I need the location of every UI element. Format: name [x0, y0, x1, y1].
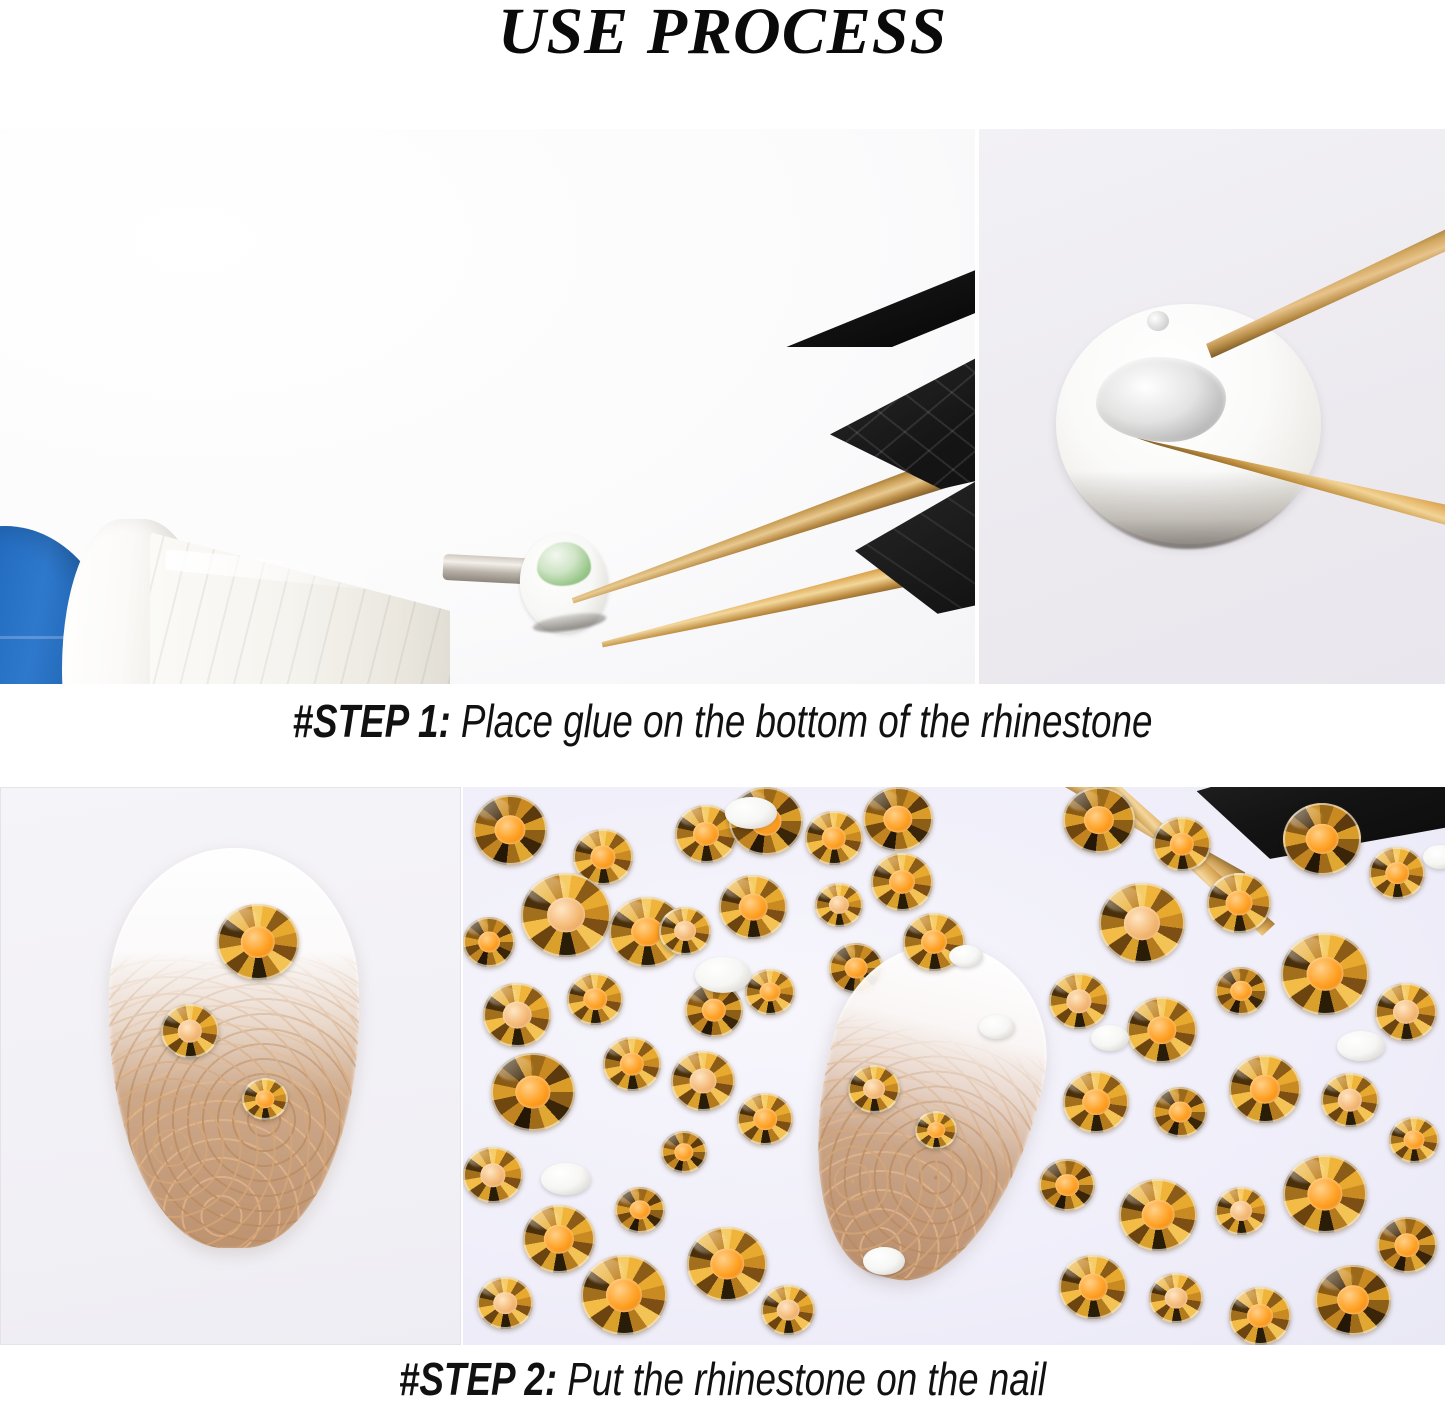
- scattered-rhinestone: [1283, 803, 1361, 875]
- scattered-rhinestone: [615, 1187, 665, 1233]
- rhinestone-face-down: [1337, 1031, 1385, 1061]
- scattered-rhinestone: [815, 883, 863, 927]
- step-1-text: Place glue on the bottom of the rhinesto…: [451, 695, 1153, 747]
- scattered-rhinestone: [863, 787, 933, 851]
- rhinestone-face-down: [949, 945, 983, 967]
- scattered-rhinestone: [521, 873, 611, 957]
- scattered-rhinestone: [581, 1255, 667, 1335]
- scattered-rhinestone: [1229, 1287, 1291, 1345]
- scattered-rhinestone: [1127, 997, 1197, 1063]
- glue-bubble: [1147, 311, 1169, 331]
- scattered-rhinestone: [463, 917, 515, 967]
- step-1-label: #STEP 1:: [293, 695, 451, 747]
- page-title: USE PROCESS: [0, 0, 1445, 68]
- scattered-rhinestone: [1389, 1117, 1439, 1163]
- scattered-rhinestone: [659, 907, 711, 955]
- infographic-page: USE PROCESS #STEP 1: Place glue on the b…: [0, 0, 1445, 1412]
- scattered-rhinestone: [805, 811, 863, 865]
- scattered-rhinestone: [671, 1051, 735, 1111]
- step-1-caption: #STEP 1: Place glue on the bottom of the…: [145, 694, 1301, 748]
- scattered-rhinestone: [687, 1227, 767, 1301]
- scattered-rhinestone: [1153, 817, 1211, 871]
- nail-rhinestone-placed: [848, 1065, 900, 1113]
- scattered-rhinestone: [745, 969, 795, 1015]
- scattered-rhinestone: [719, 875, 787, 939]
- scattered-rhinestone: [1315, 1265, 1391, 1335]
- scattered-rhinestone: [523, 1205, 595, 1273]
- glue-smear: [1096, 357, 1226, 442]
- scattered-rhinestone: [483, 983, 551, 1047]
- scattered-rhinestone: [1059, 1255, 1127, 1319]
- scattered-rhinestone: [1215, 967, 1267, 1015]
- glue-drop: [537, 542, 591, 586]
- scattered-rhinestone: [603, 1037, 661, 1091]
- step-2-text: Put the rhinestone on the nail: [557, 1353, 1046, 1405]
- scattered-rhinestone: [1321, 1073, 1379, 1127]
- scattered-rhinestone: [477, 1277, 533, 1329]
- scattered-rhinestone: [1153, 1087, 1207, 1137]
- scattered-rhinestone: [1063, 1071, 1129, 1133]
- scattered-rhinestone: [1049, 973, 1109, 1029]
- scattered-rhinestone: [661, 1131, 707, 1173]
- nail-rhinestone-placed: [915, 1111, 957, 1149]
- scattered-rhinestone: [1207, 873, 1271, 933]
- scattered-rhinestone: [1283, 1155, 1367, 1233]
- rhinestone-back-closeup-photo: [979, 129, 1445, 684]
- step-2-caption: #STEP 2: Put the rhinestone on the nail: [145, 1352, 1301, 1406]
- finished-nail-photo: [0, 787, 461, 1345]
- scattered-rhinestone: [761, 1285, 815, 1335]
- scattered-rhinestone: [737, 1093, 793, 1145]
- rhinestone-placement-photo: [463, 787, 1445, 1345]
- nail-rhinestone-large: [217, 904, 299, 980]
- scattered-rhinestone: [1039, 1159, 1095, 1211]
- scattered-rhinestone: [1229, 1055, 1301, 1123]
- scattered-rhinestone: [463, 1147, 523, 1203]
- rhinestone-face-down: [695, 957, 751, 993]
- scattered-rhinestone: [491, 1053, 575, 1131]
- scattered-rhinestone: [1149, 1273, 1203, 1323]
- scattered-rhinestone: [1119, 1179, 1197, 1251]
- rhinestone-face-down: [863, 1247, 905, 1275]
- scattered-rhinestone: [1377, 1217, 1437, 1273]
- scattered-rhinestone: [1369, 847, 1425, 899]
- scattered-rhinestone: [1215, 1187, 1267, 1235]
- nail-rhinestone-medium: [161, 1004, 219, 1058]
- rhinestone-face-down: [725, 797, 777, 829]
- nail-rhinestone-small: [242, 1078, 288, 1120]
- scattered-rhinestone: [1063, 787, 1135, 853]
- rhinestone-face-down: [979, 1015, 1015, 1039]
- scattered-rhinestone: [1281, 933, 1369, 1015]
- scattered-rhinestone: [567, 973, 623, 1025]
- scattered-rhinestone: [871, 853, 933, 911]
- scattered-rhinestone: [1375, 983, 1437, 1041]
- scattered-rhinestone: [473, 795, 547, 865]
- rhinestone-face-down: [1091, 1025, 1129, 1051]
- rhinestone-face-down: [541, 1163, 591, 1195]
- scattered-rhinestone: [1099, 883, 1185, 963]
- step-2-label: #STEP 2:: [399, 1353, 557, 1405]
- glue-applied-to-rhinestone-photo: [0, 129, 975, 684]
